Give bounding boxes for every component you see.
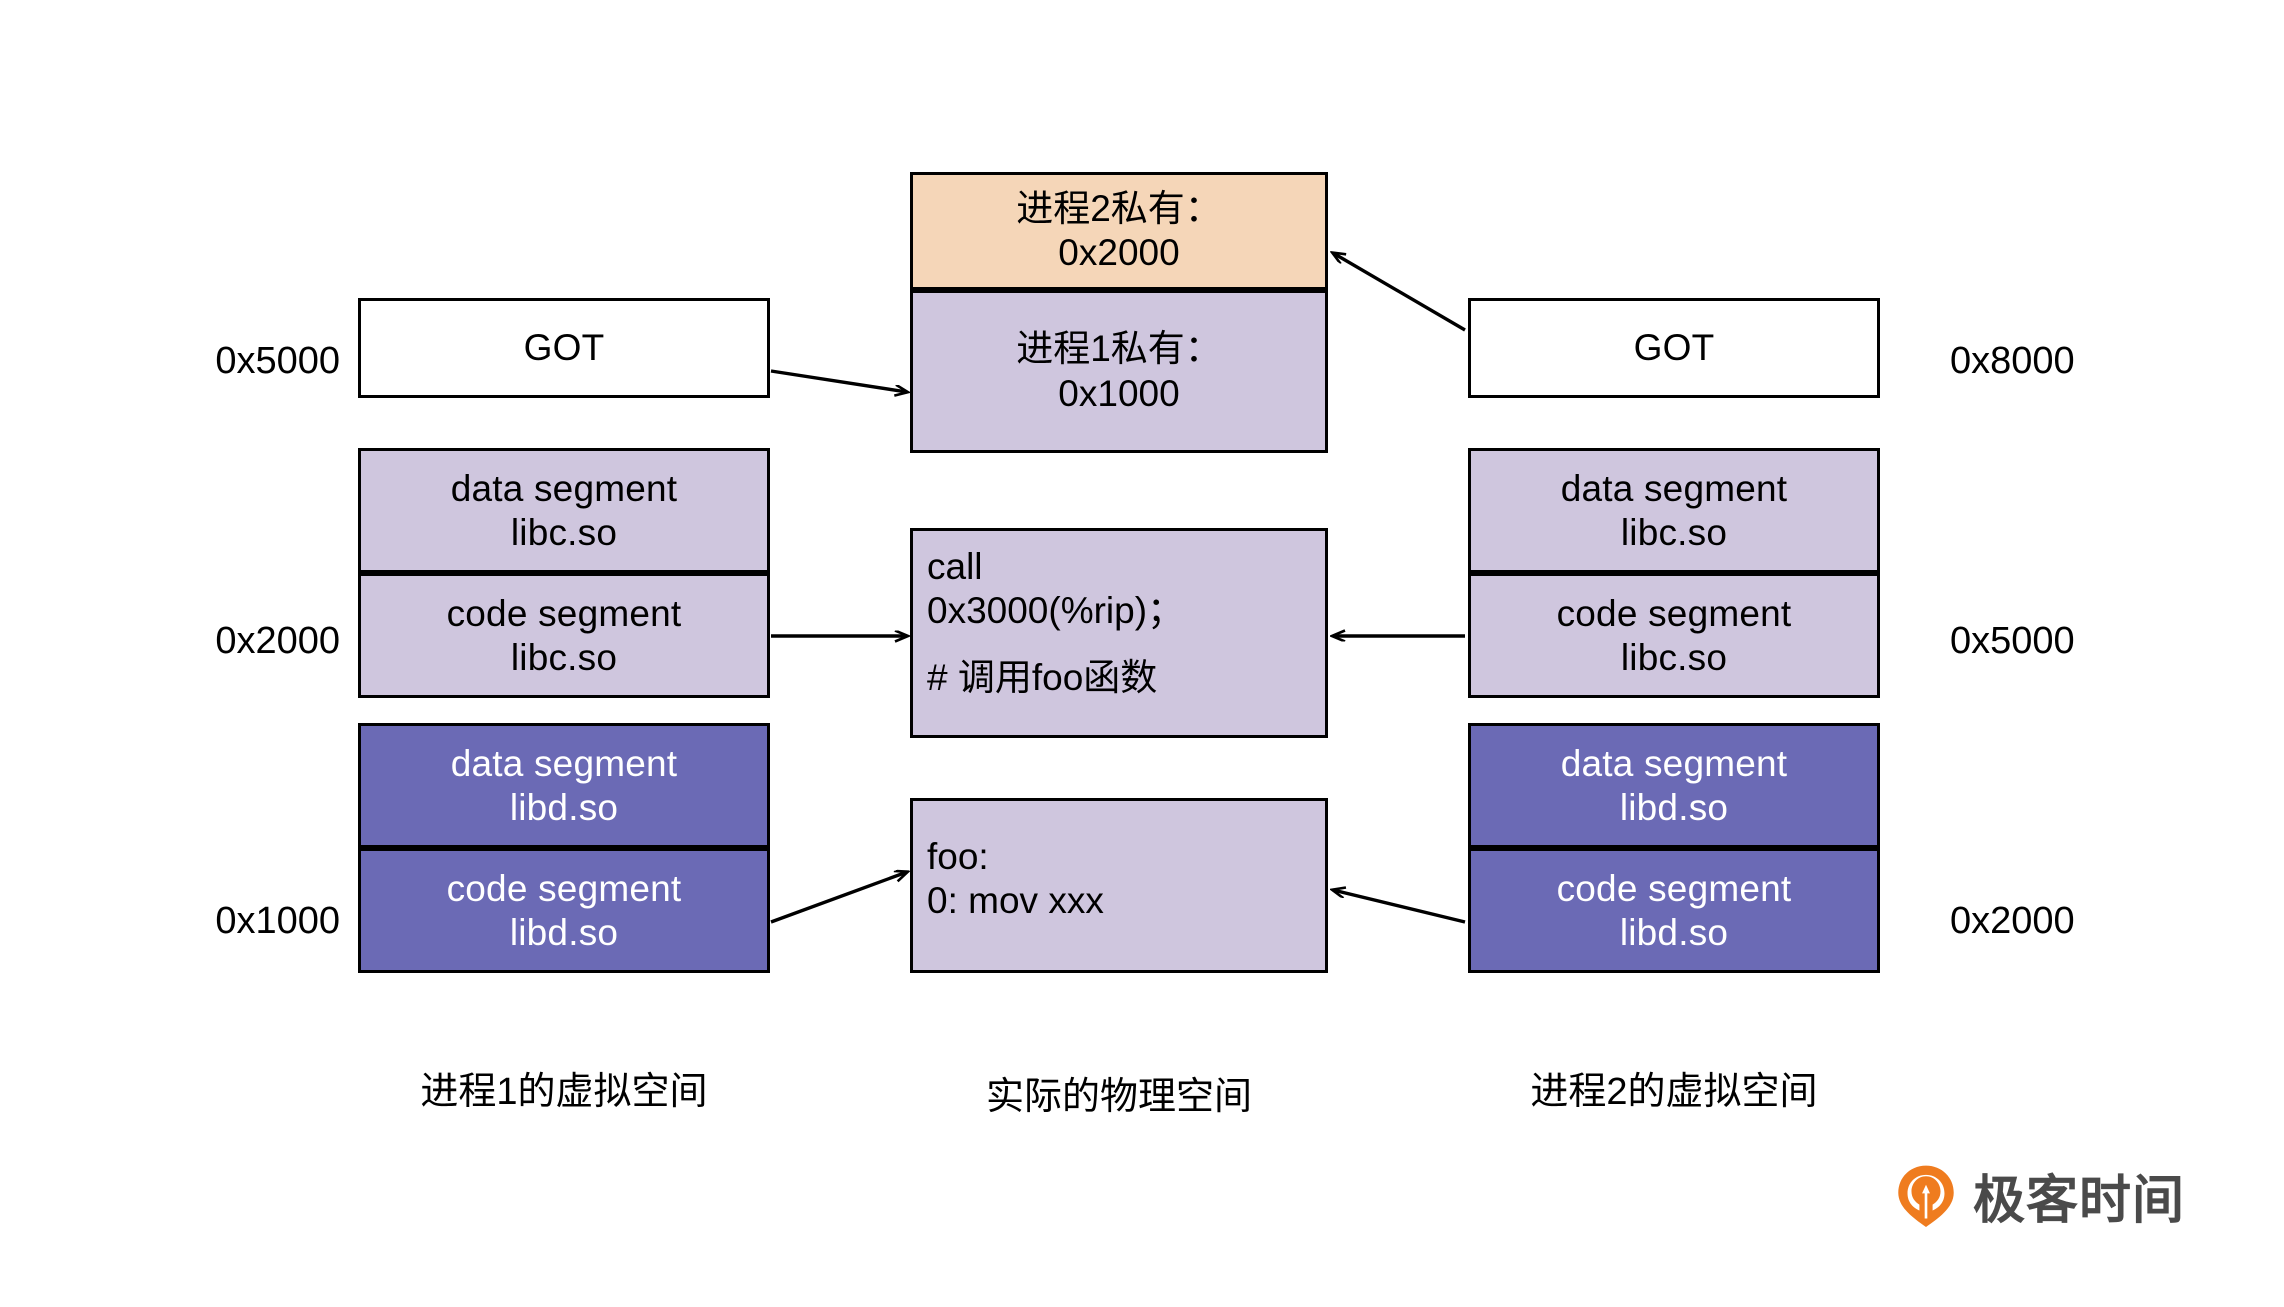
p2-block-code-libd[interactable]: code segment libd.so (1468, 848, 1880, 973)
phys-block-foo-code[interactable]: foo: 0: mov xxx (910, 798, 1328, 973)
p2-code-libd-line2: libd.so (1620, 911, 1728, 955)
phys-foo-instruction: 0: mov xxx (927, 879, 1325, 923)
address-label-p2-0x5000: 0x5000 (1950, 620, 2210, 663)
p1-data-libc-line1: data segment (451, 467, 678, 511)
p2-data-libc-line2: libc.so (1621, 511, 1727, 555)
phys-p1-private-line1: 进程1私有： (1016, 327, 1222, 371)
phys-block-process1-private[interactable]: 进程1私有： 0x1000 (910, 290, 1328, 453)
p1-code-libd-line1: code segment (447, 867, 682, 911)
address-label-p1-0x5000: 0x5000 (120, 340, 340, 383)
p1-block-data-libd[interactable]: data segment libd.so (358, 723, 770, 848)
diagram-canvas: 0x5000 0x2000 0x1000 GOT data segment li… (0, 0, 2284, 1307)
p1-data-libd-line1: data segment (451, 742, 678, 786)
address-label-p2-0x2000: 0x2000 (1950, 900, 2210, 943)
address-label-p2-0x8000: 0x8000 (1950, 340, 2210, 383)
p1-code-libd-line2: libd.so (510, 911, 618, 955)
phys-call-line1: call (927, 545, 1325, 589)
phys-block-call-code[interactable]: call 0x3000(%rip)； # 调用foo函数 (910, 528, 1328, 738)
p1-code-libc-line1: code segment (447, 592, 682, 636)
p2-got-label: GOT (1634, 326, 1715, 370)
geektime-logo: 极客时间 (1893, 1158, 2185, 1233)
phys-p2-private-line2: 0x2000 (1058, 231, 1179, 275)
phys-foo-label: foo: (927, 835, 1325, 879)
caption-physical: 实际的物理空间 (889, 1065, 1349, 1120)
p1-code-libc-line2: libc.so (511, 636, 617, 680)
address-label-p1-0x1000: 0x1000 (120, 900, 340, 943)
phys-p1-private-line2: 0x1000 (1058, 372, 1179, 416)
arrow-p2-codelibd-to-foobox (1333, 890, 1465, 922)
p2-block-data-libc[interactable]: data segment libc.so (1468, 448, 1880, 573)
p1-block-got[interactable]: GOT (358, 298, 770, 398)
p2-data-libd-line2: libd.so (1620, 786, 1728, 830)
phys-p2-private-line1: 进程2私有： (1016, 187, 1222, 231)
geektime-pin-icon (1893, 1163, 1959, 1229)
p2-data-libc-line1: data segment (1561, 467, 1788, 511)
arrow-p1-codelibd-to-foobox (771, 872, 907, 922)
caption-process1: 进程1的虚拟空间 (334, 1060, 794, 1115)
p2-block-data-libd[interactable]: data segment libd.so (1468, 723, 1880, 848)
geektime-wordmark: 极客时间 (1973, 1158, 2185, 1233)
p2-data-libd-line1: data segment (1561, 742, 1788, 786)
phys-call-comment: # 调用foo函数 (927, 656, 1325, 700)
p2-code-libc-line1: code segment (1557, 592, 1792, 636)
address-label-p1-0x2000: 0x2000 (120, 620, 340, 663)
phys-block-process2-private[interactable]: 进程2私有： 0x2000 (910, 172, 1328, 290)
arrow-p1-got-to-private (771, 371, 907, 392)
p2-block-got[interactable]: GOT (1468, 298, 1880, 398)
p1-data-libd-line2: libd.so (510, 786, 618, 830)
phys-call-line2: 0x3000(%rip)； (927, 589, 1325, 633)
arrow-p2-got-to-private (1333, 253, 1465, 330)
p1-block-data-libc[interactable]: data segment libc.so (358, 448, 770, 573)
p1-block-code-libc[interactable]: code segment libc.so (358, 573, 770, 698)
p2-block-code-libc[interactable]: code segment libc.so (1468, 573, 1880, 698)
caption-process2: 进程2的虚拟空间 (1444, 1060, 1904, 1115)
p2-code-libd-line1: code segment (1557, 867, 1792, 911)
p1-got-label: GOT (524, 326, 605, 370)
p1-data-libc-line2: libc.so (511, 511, 617, 555)
phys-call-spacer (927, 634, 1325, 656)
p1-block-code-libd[interactable]: code segment libd.so (358, 848, 770, 973)
p2-code-libc-line2: libc.so (1621, 636, 1727, 680)
